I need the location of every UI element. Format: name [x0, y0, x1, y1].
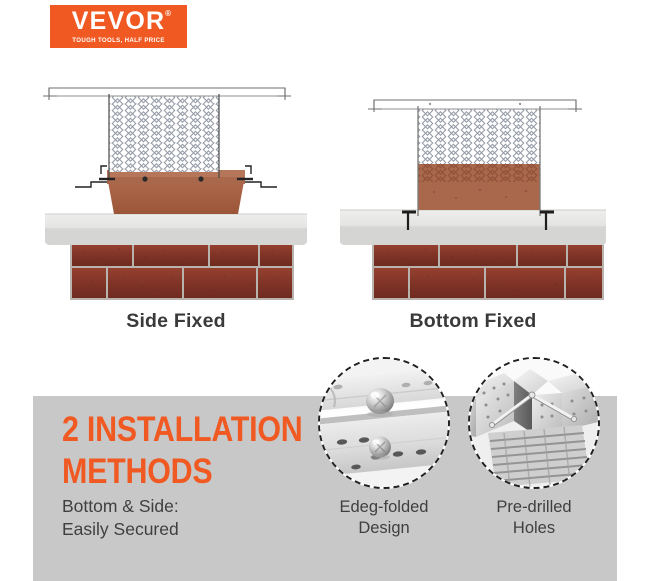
feature-label-line-1: Edeg-folded	[310, 497, 458, 518]
side-screw-head-1	[142, 176, 147, 181]
side-screw-head-2	[198, 176, 203, 181]
dome-screw-2	[369, 437, 391, 460]
feature-label-line-2: Design	[310, 518, 458, 539]
feature-label-line-1: Pre-drilled	[460, 497, 608, 518]
flue-tile	[418, 162, 540, 210]
chimney-crown	[340, 210, 606, 245]
diagram-side-fixed	[33, 78, 319, 306]
headline-line-2: METHODS	[62, 451, 297, 493]
dome-screw-1	[366, 388, 394, 417]
feature-pre-drilled: Pre-drilled Holes	[460, 357, 608, 539]
chimney-brick-stack	[372, 242, 604, 300]
feature-pre-drilled-photo	[468, 357, 600, 489]
mesh-screen	[109, 94, 219, 172]
chimney-brick-stack	[70, 242, 294, 300]
flue-tile	[107, 170, 245, 214]
brand-name: VEVOR®	[72, 9, 166, 34]
subtitle-line-2: Easily Secured	[62, 518, 179, 541]
feature-pre-drilled-label: Pre-drilled Holes	[460, 497, 608, 539]
brand-name-text: VEVOR	[72, 7, 166, 35]
caption-bottom-fixed: Bottom Fixed	[330, 310, 616, 333]
feature-label-line-2: Holes	[460, 518, 608, 539]
trademark-symbol: ®	[165, 10, 172, 18]
diagram-bottom-fixed	[330, 78, 616, 306]
feature-edge-folded-photo	[318, 357, 450, 489]
chimney-crown	[45, 214, 307, 245]
subtitle-line-1: Bottom & Side:	[62, 495, 179, 518]
feature-edge-folded: Edeg-folded Design	[310, 357, 458, 539]
caption-side-fixed: Side Fixed	[33, 310, 319, 333]
brand-tagline: TOUGH TOOLS, HALF PRICE	[72, 37, 164, 44]
banner-headline: 2 INSTALLATION METHODS	[62, 409, 332, 493]
headline-line-1: 2 INSTALLATION	[62, 409, 297, 451]
feature-edge-folded-label: Edeg-folded Design	[310, 497, 458, 539]
vevor-logo: VEVOR® TOUGH TOOLS, HALF PRICE	[50, 5, 187, 48]
mesh-screen	[418, 106, 540, 164]
banner-subtitle: Bottom & Side: Easily Secured	[62, 495, 179, 541]
